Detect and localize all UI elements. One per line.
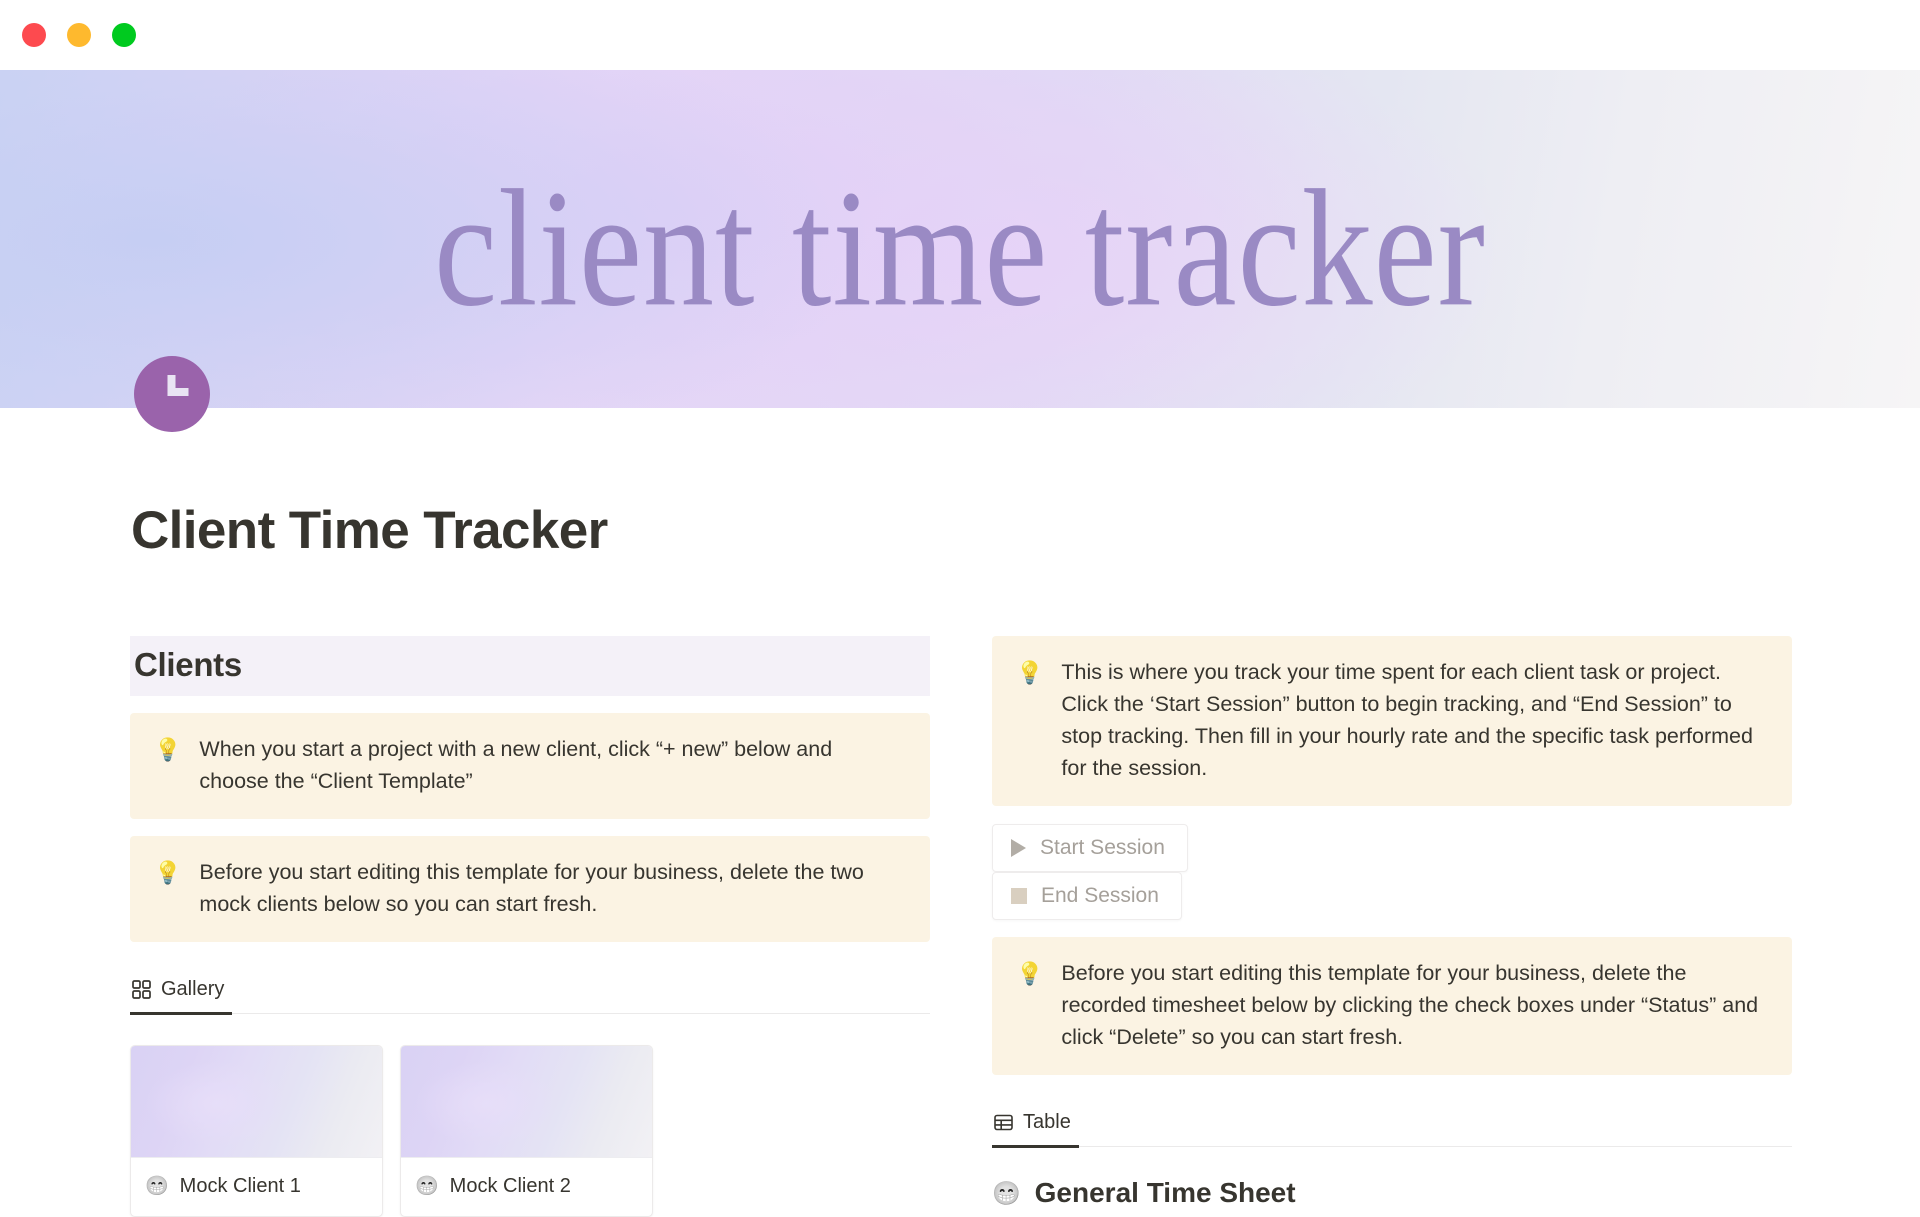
clients-heading-text: Clients xyxy=(134,646,930,684)
clients-gallery: 😁 Mock Client 1 😁 Mock Client 2 xyxy=(130,1045,930,1217)
gallery-card-title: Mock Client 1 xyxy=(180,1175,301,1198)
grinning-face-icon: 😁 xyxy=(145,1174,169,1198)
tab-gallery[interactable]: Gallery xyxy=(130,974,236,1013)
end-session-label: End Session xyxy=(1041,884,1159,908)
grinning-face-icon: 😁 xyxy=(992,1180,1021,1207)
callout-new-client-text: When you start a project with a new clie… xyxy=(199,733,906,797)
end-session-row: End Session xyxy=(992,872,1792,920)
callout-new-client: 💡 When you start a project with a new cl… xyxy=(130,713,930,819)
callout-delete-timesheet: 💡 Before you start editing this template… xyxy=(992,937,1792,1075)
start-session-row: Start Session xyxy=(992,824,1792,872)
left-column: Clients 💡 When you start a project with … xyxy=(130,636,930,1217)
start-session-label: Start Session xyxy=(1040,836,1165,860)
callout-delete-mock-clients-text: Before you start editing this template f… xyxy=(199,856,906,920)
gallery-card-label: 😁 Mock Client 1 xyxy=(131,1158,382,1216)
gallery-card-cover xyxy=(131,1046,382,1158)
lightbulb-icon: 💡 xyxy=(154,733,181,767)
tab-gallery-label: Gallery xyxy=(161,978,224,1001)
window-title-bar xyxy=(0,0,1920,70)
maximize-window-button[interactable] xyxy=(112,23,136,47)
start-session-button[interactable]: Start Session xyxy=(992,824,1188,872)
end-session-button[interactable]: End Session xyxy=(992,872,1182,920)
table-icon xyxy=(994,1113,1013,1132)
clients-section-heading: Clients xyxy=(130,636,930,696)
gallery-card[interactable]: 😁 Mock Client 2 xyxy=(400,1045,653,1217)
gallery-card-title: Mock Client 2 xyxy=(450,1175,571,1198)
lightbulb-icon: 💡 xyxy=(1016,656,1043,690)
lightbulb-icon: 💡 xyxy=(1016,957,1043,991)
gallery-card[interactable]: 😁 Mock Client 1 xyxy=(130,1045,383,1217)
minimize-window-button[interactable] xyxy=(67,23,91,47)
play-icon xyxy=(1011,839,1026,857)
clock-icon xyxy=(134,356,210,432)
callout-time-tracking-info-text: This is where you track your time spent … xyxy=(1061,656,1768,784)
tab-table[interactable]: Table xyxy=(992,1107,1083,1146)
database-title-text: General Time Sheet xyxy=(1035,1177,1296,1209)
callout-delete-mock-clients: 💡 Before you start editing this template… xyxy=(130,836,930,942)
page-body: Client Time Tracker Clients 💡 When you s… xyxy=(0,408,1920,1200)
tab-table-label: Table xyxy=(1023,1111,1071,1134)
traffic-lights xyxy=(22,23,136,47)
stop-icon xyxy=(1011,888,1027,904)
page-title: Client Time Tracker xyxy=(131,500,608,561)
page-cover-banner[interactable]: client time tracker xyxy=(0,70,1920,408)
page-icon-clock[interactable] xyxy=(134,356,210,432)
banner-title-text: client time tracker xyxy=(0,164,1920,332)
grinning-face-icon: 😁 xyxy=(415,1174,439,1198)
gallery-card-label: 😁 Mock Client 2 xyxy=(401,1158,652,1216)
right-column: 💡 This is where you track your time spen… xyxy=(992,636,1792,1209)
callout-delete-timesheet-text: Before you start editing this template f… xyxy=(1061,957,1768,1053)
session-buttons-group: Start Session End Session xyxy=(992,824,1792,920)
callout-time-tracking-info: 💡 This is where you track your time spen… xyxy=(992,636,1792,806)
gallery-card-cover xyxy=(401,1046,652,1158)
lightbulb-icon: 💡 xyxy=(154,856,181,890)
timesheet-view-tabs: Table xyxy=(992,1107,1792,1147)
database-title[interactable]: 😁 General Time Sheet xyxy=(992,1177,1792,1209)
gallery-grid-icon xyxy=(132,980,151,999)
close-window-button[interactable] xyxy=(22,23,46,47)
clients-view-tabs: Gallery xyxy=(130,974,930,1014)
